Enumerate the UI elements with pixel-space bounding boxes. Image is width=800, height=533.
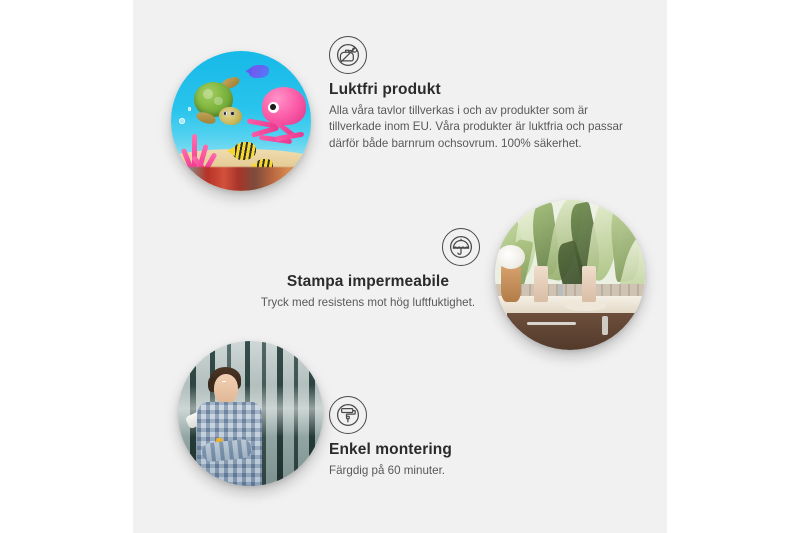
content-panel: Luktfri produkt Alla våra tavlor tillver…: [133, 0, 667, 533]
feature-waterproof: Stampa impermeabile Tryck med resistens …: [218, 228, 518, 311]
paint-roller-icon: [329, 396, 367, 434]
octopus-icon: [249, 87, 308, 154]
room-photo-strip: [171, 167, 311, 191]
person-figure: [193, 367, 274, 486]
feature-title: Stampa impermeabile: [218, 273, 518, 292]
sea-turtle-icon: [189, 82, 245, 130]
flowers-icon: [497, 245, 526, 269]
feature-easy-install: Enkel montering Färgdig på 60 minuter.: [329, 396, 609, 479]
coral-icon: [182, 129, 221, 171]
screenshot-stage: Luktfri produkt Alla våra tavlor tillver…: [0, 0, 800, 533]
feature-description: Tryck med resistens mot hög luftfuktighe…: [218, 295, 518, 311]
umbrella-icon: [442, 228, 480, 266]
product-image-bathroom[interactable]: [495, 200, 645, 350]
vanity-cabinet: [507, 313, 645, 351]
feature-title: Enkel montering: [329, 441, 609, 460]
feature-description: Färgdig på 60 minuter.: [329, 463, 609, 479]
ocean-artwork: [171, 51, 311, 191]
feature-description: Alla våra tavlor tillverkas i och av pro…: [329, 103, 629, 152]
bathroom-artwork: [495, 200, 645, 350]
towel: [534, 266, 548, 302]
painter-artwork: [178, 341, 323, 486]
product-image-ocean[interactable]: [171, 51, 311, 191]
feature-title: Luktfri produkt: [329, 81, 629, 100]
feature-odourless: Luktfri produkt Alla våra tavlor tillver…: [329, 36, 629, 152]
no-fragrance-icon: [329, 36, 367, 74]
blue-fish-icon: [249, 65, 269, 78]
bubble-icon: [179, 118, 185, 124]
product-image-painter[interactable]: [178, 341, 323, 486]
towel: [582, 266, 596, 302]
sink-basin: [564, 301, 606, 312]
